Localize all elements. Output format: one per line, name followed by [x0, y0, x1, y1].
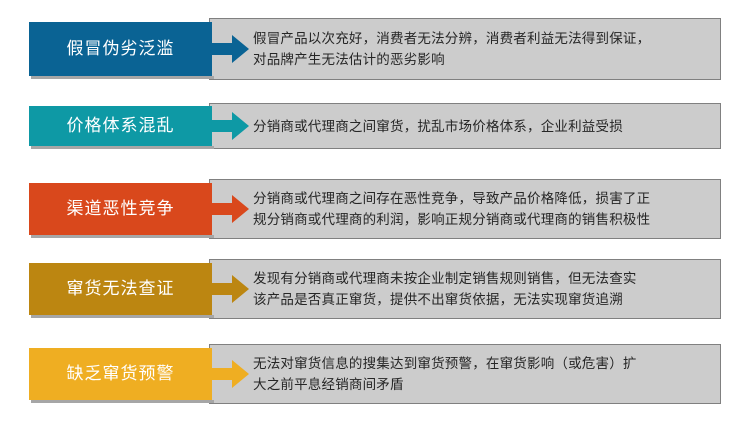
category-label-text: 缺乏窜货预警 — [67, 365, 175, 384]
description-line: 该产品是否真正窜货，提供不出窜货依据，无法实现窜货追溯 — [253, 289, 735, 310]
description-line: 无法对窜货信息的搜集达到窜货预警，在窜货影响（或危害）扩 — [253, 353, 735, 374]
right-arrow-icon — [210, 34, 250, 64]
description-line: 发现有分销商或代理商未按企业制定销售规则销售，但无法查实 — [253, 268, 735, 289]
description-line: 规分销商或代理商的利润，影响正规分销商或代理商的销售积极性 — [253, 209, 735, 230]
right-arrow-icon — [210, 194, 250, 224]
right-arrow-icon — [210, 359, 250, 389]
description-line: 对品牌产生无法估计的恶劣影响 — [253, 49, 735, 70]
description-text: 发现有分销商或代理商未按企业制定销售规则销售，但无法查实该产品是否真正窜货，提供… — [253, 268, 735, 310]
problem-list-diagram: 假冒伪劣泛滥假冒产品以次充好，消费者无法分辨，消费者利益无法得到保证，对品牌产生… — [0, 0, 749, 425]
description-line: 分销商或代理商之间存在恶性竞争，导致产品价格降低，损害了正 — [253, 188, 735, 209]
label-chip-shadow — [31, 400, 214, 403]
description-text: 假冒产品以次充好，消费者无法分辨，消费者利益无法得到保证，对品牌产生无法估计的恶… — [253, 28, 735, 70]
description-text: 无法对窜货信息的搜集达到窜货预警，在窜货影响（或危害）扩大之前平息经销商间矛盾 — [253, 353, 735, 395]
category-label-chip[interactable]: 缺乏窜货预警 — [29, 348, 212, 400]
description-text: 分销商或代理商之间窜货，扰乱市场价格体系，企业利益受损 — [253, 116, 735, 137]
right-arrow-icon — [210, 111, 250, 141]
description-line: 分销商或代理商之间窜货，扰乱市场价格体系，企业利益受损 — [253, 116, 735, 137]
description-text: 分销商或代理商之间存在恶性竞争，导致产品价格降低，损害了正规分销商或代理商的利润… — [253, 188, 735, 230]
description-line: 假冒产品以次充好，消费者无法分辨，消费者利益无法得到保证， — [253, 28, 735, 49]
description-line: 大之前平息经销商间矛盾 — [253, 374, 735, 395]
right-arrow-icon — [210, 274, 250, 304]
